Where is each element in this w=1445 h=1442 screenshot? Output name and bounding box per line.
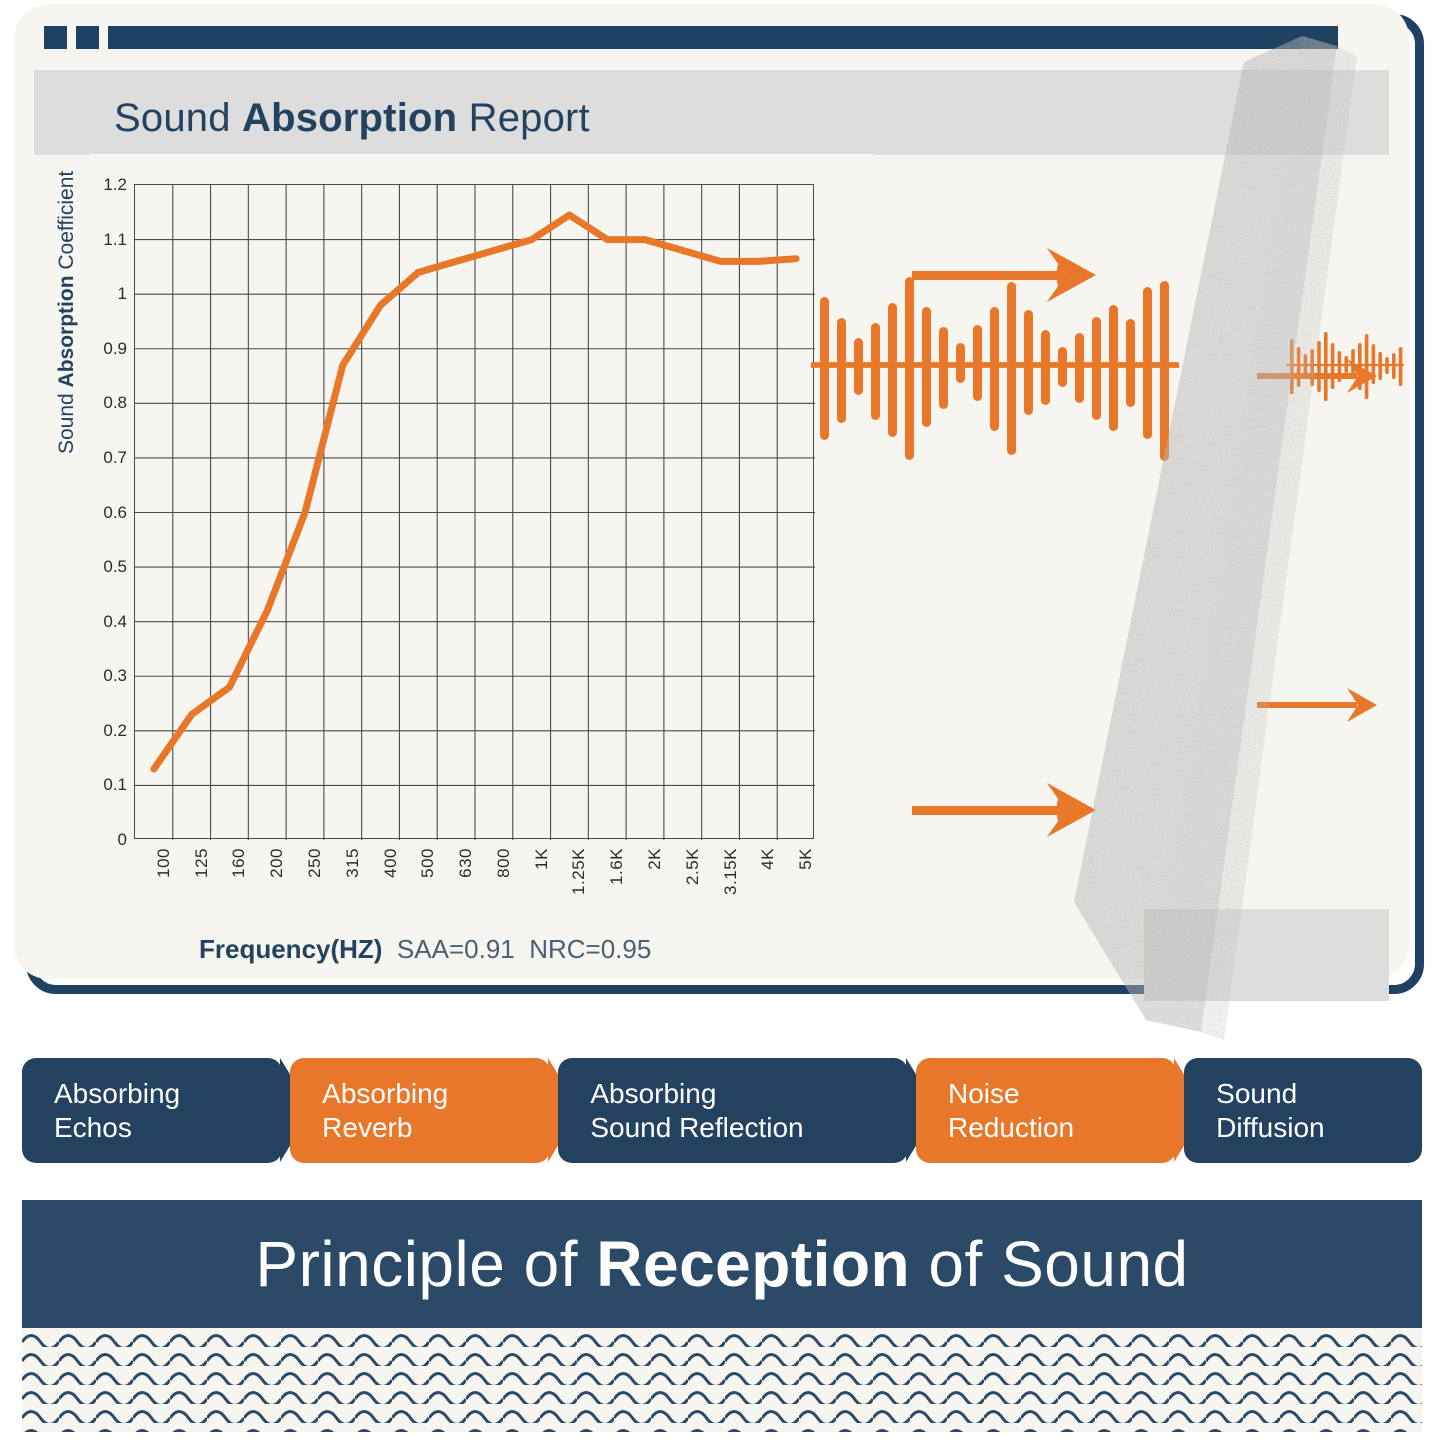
sound-waveform-attenuated-icon [1286,332,1404,401]
x-axis-tick: 315 [343,848,363,878]
chevron-absorbing-reverb[interactable]: Absorbing Reverb [290,1058,550,1163]
frequency-axis-label: Frequency(HZ) [199,934,382,964]
x-axis-tick: 4K [758,848,778,870]
window-chrome [44,26,1338,49]
y-axis-tick: 0.4 [103,612,127,632]
y-axis-tick: 0.8 [103,393,127,413]
page-title: Sound Absorption Report [114,96,590,141]
banner-suffix: of Sound [910,1228,1189,1300]
saa-value: SAA=0.91 [397,934,515,964]
window-square-1-icon [44,26,67,49]
chevron-label: Noise Reduction [948,1077,1074,1143]
report-card: Sound Absorption Report Sound Absorption… [14,4,1409,979]
y-axis-tick: 0.6 [103,503,127,523]
y-axis-label-bold: Absorption [55,275,78,387]
page-title-prefix: Sound [114,96,242,140]
incoming-sound-arrow-bottom-icon [912,783,1096,837]
incoming-sound-arrow-top-icon [912,248,1096,302]
y-axis-label-prefix: Sound [55,387,78,454]
window-title-bar-icon [108,26,1338,49]
wave-texture-svg [22,1328,1422,1432]
x-axis-tick: 2.5K [683,848,703,885]
y-axis-tick: 0 [118,830,127,850]
page-title-bold: Absorption [242,96,457,140]
chevron-label: Absorbing Sound Reflection [590,1077,803,1143]
y-axis-tick: 0.2 [103,721,127,741]
nrc-value: NRC=0.95 [529,934,651,964]
y-axis-tick: 0.1 [103,775,127,795]
banner-title: Principle of Reception of Sound [255,1227,1188,1301]
chevron-label: Absorbing Reverb [322,1077,448,1143]
chevron-absorbing-echos[interactable]: Absorbing Echos [22,1058,282,1163]
y-axis-tick: 0.7 [103,448,127,468]
x-axis-tick: 2K [645,848,665,870]
y-axis-label-suffix: Coefficient [55,171,78,276]
reflected-sound-arrow-lower-icon [1257,688,1377,722]
y-axis-tick: 1.2 [103,175,127,195]
chart-footer: Frequency(HZ) SAA=0.91 NRC=0.95 [199,934,651,965]
banner-bold: Reception [596,1228,910,1300]
x-axis-tick: 3.15K [721,848,741,895]
x-axis-tick: 1.6K [607,848,627,885]
banner-prefix: Principle of [255,1228,596,1300]
x-axis-tick: 400 [381,848,401,878]
y-axis-tick: 0.3 [103,666,127,686]
y-axis-tick: 1.1 [103,230,127,250]
chevron-label: Sound Diffusion [1216,1077,1324,1143]
chevron-label: Absorbing Echos [54,1077,180,1143]
x-axis-tick: 800 [494,848,514,878]
x-axis-tick: 250 [305,848,325,878]
chart-plot-area: 1.21.110.90.80.70.60.50.40.30.20.1010012… [134,184,814,839]
chart-y-axis-label: Sound Absorption Coefficient [55,171,79,454]
x-axis-tick: 500 [418,848,438,878]
bottom-banner: Principle of Reception of Sound [22,1200,1422,1328]
page-title-suffix: Report [457,96,590,140]
x-axis-tick: 125 [192,848,212,878]
y-axis-tick: 0.9 [103,339,127,359]
x-axis-tick: 200 [267,848,287,878]
y-axis-tick: 0.5 [103,557,127,577]
chevron-sound-diffusion[interactable]: Sound Diffusion [1184,1058,1422,1163]
chart-svg [135,185,815,840]
x-axis-tick: 160 [229,848,249,878]
window-square-2-icon [76,26,99,49]
sound-waveform-incoming-icon [811,277,1179,461]
x-axis-tick: 100 [154,848,174,878]
x-axis-tick: 630 [456,848,476,878]
x-axis-tick: 1.25K [569,848,589,895]
sound-illustration [804,154,1404,954]
wave-texture-strip [22,1328,1422,1432]
header-band-right-extension [874,70,1389,155]
x-axis-tick: 1K [532,848,552,870]
y-axis-tick: 1 [118,284,127,304]
chevron-absorbing-sound-reflection[interactable]: Absorbing Sound Reflection [558,1058,908,1163]
absorption-chart: Sound Absorption Coefficient 1.21.110.90… [89,154,929,922]
benefit-chevron-row: Absorbing Echos Absorbing Reverb Absorbi… [22,1058,1422,1163]
chevron-noise-reduction[interactable]: Noise Reduction [916,1058,1176,1163]
poster-root: Sound Absorption Report Sound Absorption… [0,0,1445,1442]
